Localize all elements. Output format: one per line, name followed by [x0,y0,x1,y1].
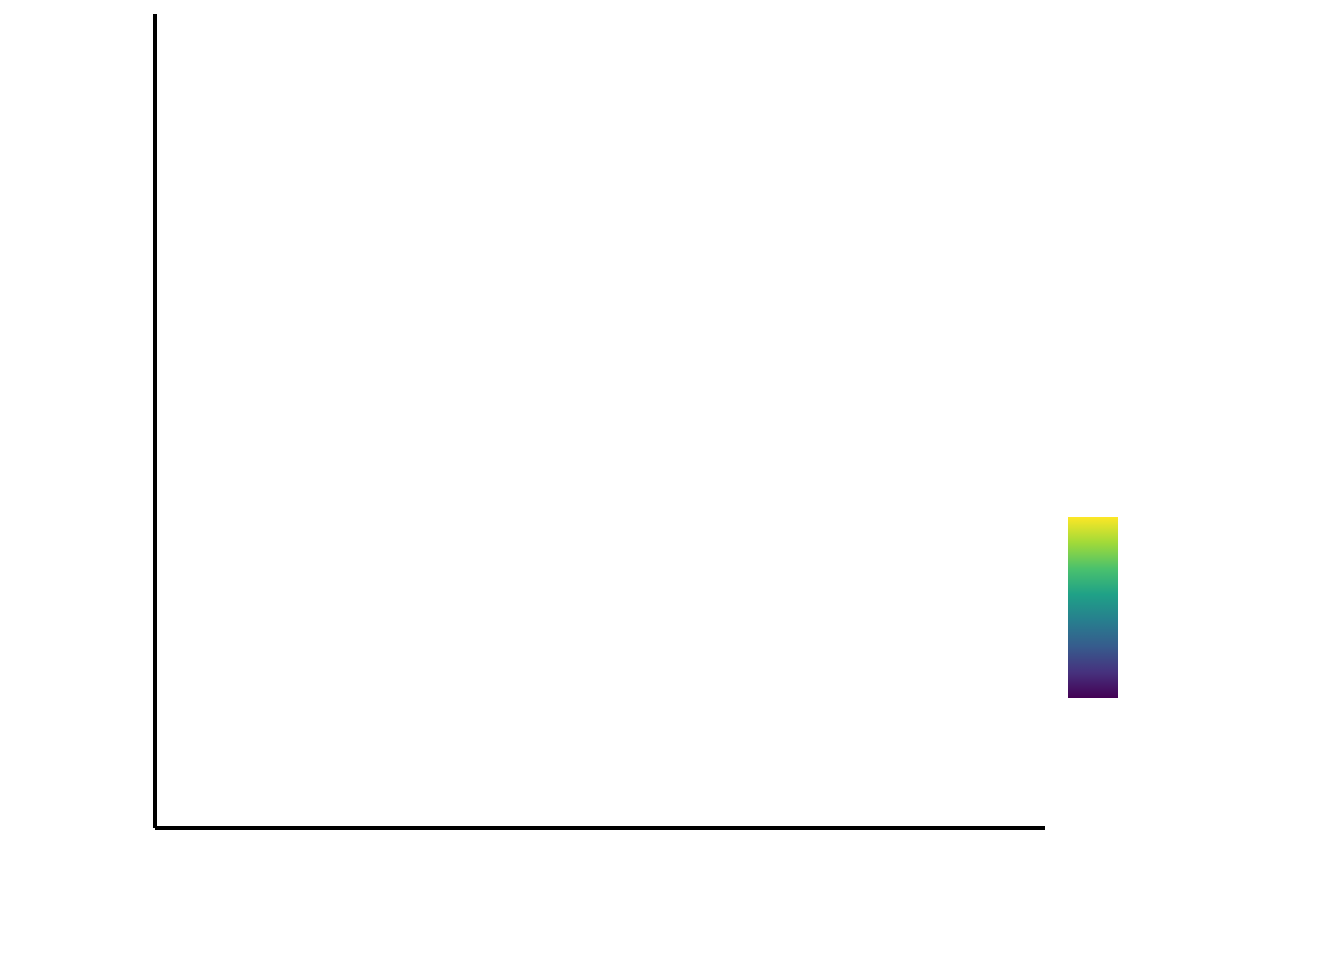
colorbar-gradient [1068,517,1118,698]
scatter-plot [0,0,1344,960]
fraction-colorbar-legend [1068,517,1118,698]
chart-root [0,0,1344,960]
axes [155,14,1045,828]
